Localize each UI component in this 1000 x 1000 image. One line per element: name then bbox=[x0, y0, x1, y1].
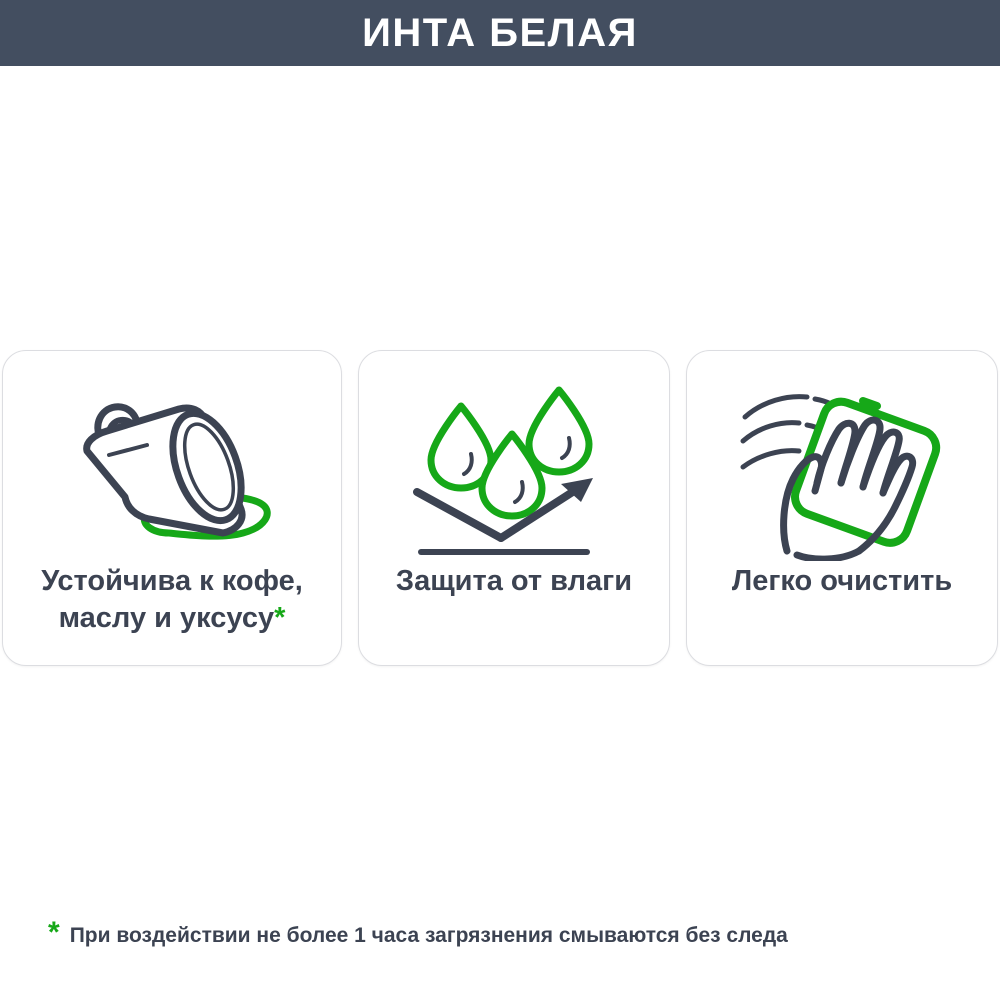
water-repellent-droplets-icon bbox=[409, 379, 619, 561]
spilled-mug-icon bbox=[57, 379, 287, 561]
feature-card-label: Устойчива к кофе, маслу и уксусу* bbox=[29, 563, 315, 637]
feature-card-label: Легко очистить bbox=[720, 563, 964, 600]
footnote-text: При воздействии не более 1 часа загрязне… bbox=[70, 923, 788, 948]
feature-cards-row: Устойчива к кофе, маслу и уксусу* bbox=[2, 350, 998, 668]
feature-card-stain-resistant[interactable]: Устойчива к кофе, маслу и уксусу* bbox=[2, 350, 342, 666]
feature-label-line-1: Устойчива к кофе, bbox=[41, 565, 303, 597]
page-title: ИНТА БЕЛАЯ bbox=[362, 13, 638, 53]
feature-label-line-1: Легко очистить bbox=[732, 565, 952, 597]
hand-wiping-cloth-icon bbox=[735, 379, 950, 561]
feature-card-moisture-protection[interactable]: Защита от влаги bbox=[358, 350, 670, 666]
feature-label-line-2: маслу и уксусу bbox=[59, 602, 275, 634]
feature-card-easy-to-clean[interactable]: Легко очистить bbox=[686, 350, 998, 666]
feature-label-line-1: Защита от влаги bbox=[396, 565, 632, 597]
footnote-asterisk-icon: * bbox=[48, 918, 60, 948]
feature-card-label: Защита от влаги bbox=[384, 563, 644, 600]
footnote: * При воздействии не более 1 часа загряз… bbox=[48, 918, 788, 948]
header-bar: ИНТА БЕЛАЯ bbox=[0, 0, 1000, 66]
asterisk-marker: * bbox=[274, 602, 285, 634]
